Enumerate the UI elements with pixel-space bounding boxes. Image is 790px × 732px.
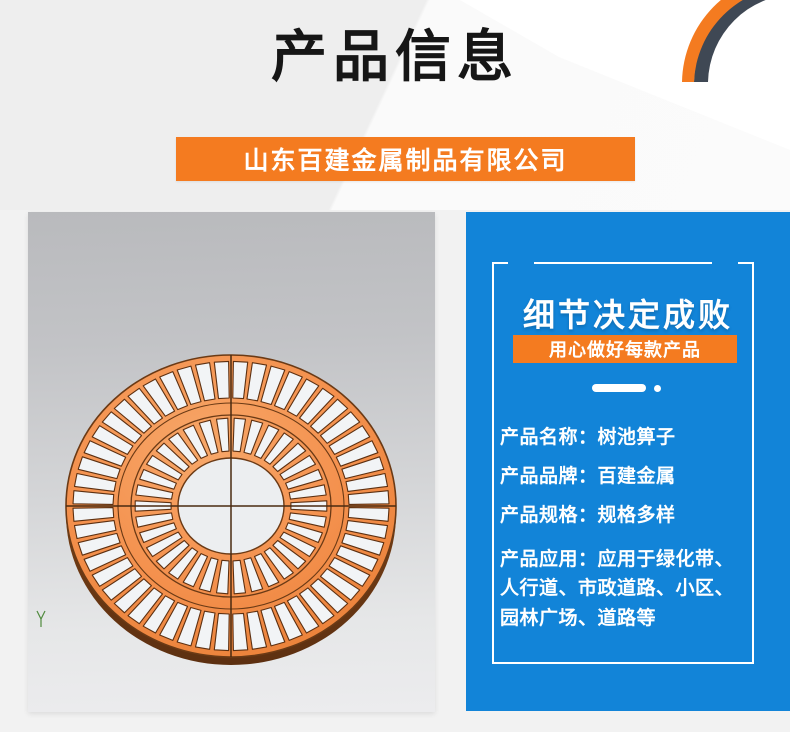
panel-headline: 细节决定成败	[466, 290, 790, 336]
divider-dot	[654, 385, 661, 392]
spec-value-application-line1: 应用于绿化带、	[598, 548, 735, 570]
frame-gap-left	[508, 260, 534, 266]
spec-label-brand: 产品品牌：	[500, 465, 598, 487]
panel-badge-text: 用心做好每款产品	[549, 336, 701, 362]
spec-value-size: 规格多样	[598, 504, 676, 526]
company-name-text: 山东百建金属制品有限公司	[243, 141, 567, 177]
panel-badge: 用心做好每款产品	[513, 335, 737, 363]
spec-label-application: 产品应用：	[500, 548, 598, 570]
spec-value-application-line3: 园林广场、道路等	[500, 607, 656, 629]
spec-list: 产品名称：树池箅子 产品品牌：百建金属 产品规格：规格多样 产品应用：应用于绿化…	[500, 428, 758, 633]
spec-row-application: 产品应用：应用于绿化带、 人行道、市政道路、小区、 园林广场、道路等	[500, 545, 758, 633]
divider-bar	[592, 384, 646, 392]
spec-row-brand: 产品品牌：百建金属	[500, 467, 758, 486]
spec-label-size: 产品规格：	[500, 504, 598, 526]
frame-gap-right	[712, 260, 738, 266]
spec-row-size: 产品规格：规格多样	[500, 506, 758, 525]
page-title: 产品信息	[0, 26, 790, 90]
product-info-page: 产品信息 山东百建金属制品有限公司	[0, 0, 790, 732]
spec-value-brand: 百建金属	[598, 465, 676, 487]
product-spec-panel: 细节决定成败 用心做好每款产品 产品名称：树池箅子 产品品牌：百建金属 产品规格…	[466, 212, 790, 711]
tree-grate-render	[28, 212, 435, 712]
spec-value-application-line2: 人行道、市政道路、小区、	[500, 577, 734, 599]
spec-value-name: 树池箅子	[598, 426, 676, 448]
cad-axis-marker	[36, 610, 50, 628]
product-image-panel[interactable]	[28, 212, 435, 712]
spec-row-name: 产品名称：树池箅子	[500, 428, 758, 447]
spec-label-name: 产品名称：	[500, 426, 598, 448]
section-divider	[592, 384, 664, 392]
company-name-banner: 山东百建金属制品有限公司	[176, 137, 635, 181]
